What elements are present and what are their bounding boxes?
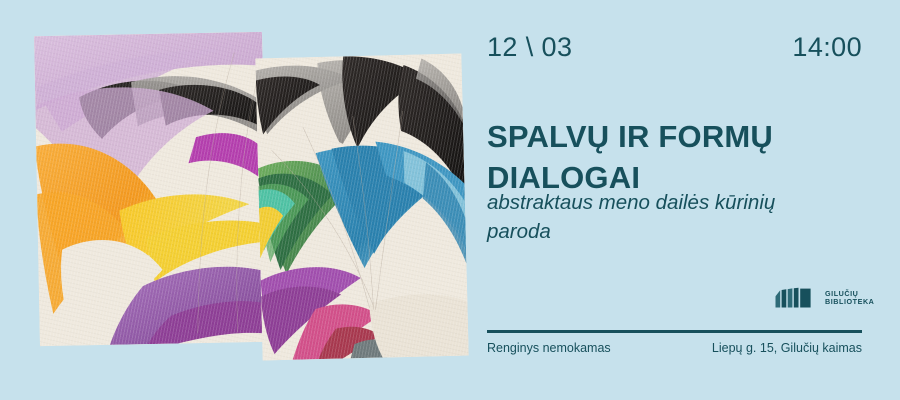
footer-price-note: Renginys nemokamas: [487, 341, 611, 355]
books-icon: [775, 287, 818, 309]
event-time: 14:00: [792, 32, 862, 63]
event-poster: 12 \ 03 14:00 SPALVŲ IR FORMŲ DIALOGAI a…: [0, 0, 900, 400]
event-subtitle: abstraktaus meno dailės kūrinių paroda: [487, 188, 817, 246]
footer-divider: [487, 330, 862, 333]
library-name-line2: BIBLIOTEKA: [825, 298, 874, 306]
library-logo-text: GILUČIŲ BIBLIOTEKA: [825, 290, 874, 306]
footer-row: Renginys nemokamas Liepų g. 15, Gilučių …: [487, 341, 862, 355]
event-title: SPALVŲ IR FORMŲ DIALOGAI: [487, 117, 862, 199]
event-meta-row: 12 \ 03 14:00: [487, 32, 862, 63]
artwork-left-drawing: [34, 32, 268, 346]
artwork-right-drawing: [255, 54, 468, 361]
event-date: 12 \ 03: [487, 32, 572, 63]
footer-address: Liepų g. 15, Gilučių kaimas: [712, 341, 862, 355]
artwork-sheet-left: [34, 32, 268, 346]
library-logo: GILUČIŲ BIBLIOTEKA: [775, 287, 874, 309]
artwork-sheet-right: [255, 54, 468, 361]
artwork-image: [37, 30, 463, 358]
poster-content: 12 \ 03 14:00 SPALVŲ IR FORMŲ DIALOGAI a…: [487, 0, 862, 400]
